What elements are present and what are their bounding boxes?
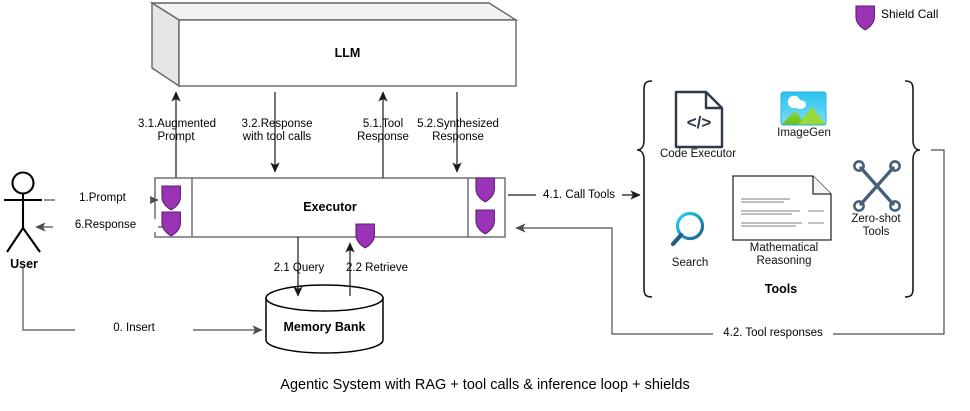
memory-bank-node [266, 285, 383, 353]
edge-tool-responses-label: 4.2. Tool responses [713, 327, 833, 340]
edge-insert-label: 0. Insert [75, 322, 193, 335]
edge-prompt-label: 1.Prompt [55, 192, 150, 205]
crossed-wrenches-icon [854, 161, 899, 210]
tool-label-math-reasoning: Mathematical Reasoning [736, 242, 832, 268]
edge-augmented-prompt-line2: Prompt [138, 131, 214, 144]
math-document-icon [733, 176, 831, 240]
code-document-icon: </> [676, 92, 722, 147]
diagram-canvas: </> [0, 0, 970, 411]
legend-shield-icon [856, 6, 874, 30]
tool-label-imagegen: ImageGen [768, 127, 840, 140]
tool-label-zero-shot-tools: Zero-shot Tools [842, 213, 910, 239]
edge-response-tool-calls-line2: with tool calls [237, 131, 317, 144]
executor-label: Executor [192, 200, 468, 214]
edge-response-label: 6.Response [53, 219, 158, 232]
edge-synthesized-response-line2: Response [416, 131, 500, 144]
image-icon [781, 92, 826, 125]
diagram-vector-layer: </> [0, 0, 970, 411]
llm-label: LLM [179, 46, 516, 60]
edge-tool-response-line1: 5.1.Tool [347, 118, 419, 131]
user-figure-icon [4, 173, 42, 253]
diagram-caption: Agentic System with RAG + tool calls & i… [0, 377, 970, 393]
tools-group-label: Tools [736, 283, 826, 296]
memory-bank-label: Memory Bank [266, 320, 383, 334]
svg-text:</>: </> [687, 113, 712, 132]
tool-label-code-executor: Code Executor [648, 148, 748, 161]
edge-response-tool-calls-line1: 3.2.Response [237, 118, 317, 131]
magnifier-icon [673, 214, 703, 245]
edge-retrieve-label: 2.2 Retrieve [336, 262, 418, 275]
tools-edges [508, 150, 944, 334]
edge-query-label: 2.1 Query [263, 262, 335, 275]
edge-tool-response-line2: Response [347, 131, 419, 144]
edge-call-tools-label: 4.1. Call Tools [536, 189, 622, 202]
user-label: User [0, 258, 48, 271]
tool-label-search: Search [660, 257, 720, 270]
llm-node [152, 3, 516, 86]
legend-shield-label: Shield Call [881, 8, 961, 21]
edge-augmented-prompt-line1: 3.1.Augmented [138, 118, 214, 131]
edge-synthesized-response-line1: 5.2.Synthesized [416, 118, 500, 131]
